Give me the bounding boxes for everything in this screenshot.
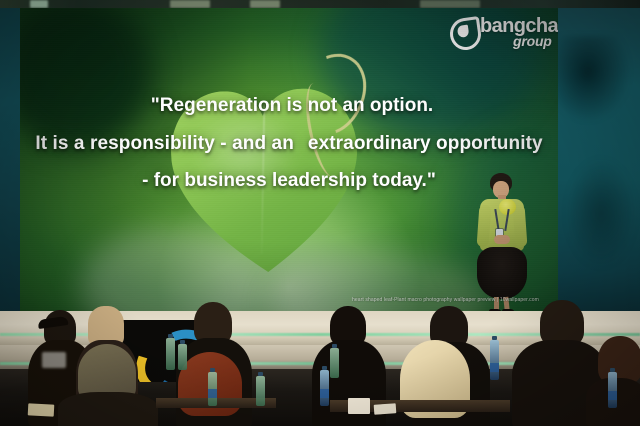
paper-notes xyxy=(374,403,397,415)
bottle-cap xyxy=(322,366,327,370)
bottle-cap xyxy=(492,336,497,340)
stage-speaker xyxy=(472,173,532,311)
paper-notes xyxy=(28,403,55,416)
projection-screen: bangchak group "Regeneration is not an o… xyxy=(20,8,558,311)
bottle-label xyxy=(490,363,499,372)
leaf-droplet-icon xyxy=(448,16,483,52)
water-bottle xyxy=(330,348,339,378)
speaker-hands xyxy=(494,235,510,244)
bottle-cap xyxy=(168,334,173,338)
bottle-label xyxy=(320,389,329,398)
right-wall xyxy=(556,8,640,318)
quote-line-2: It is a responsibility - and anextraordi… xyxy=(20,134,558,155)
quote-line-2a: It is a responsibility - and an xyxy=(35,133,294,154)
ceiling-lamp xyxy=(30,0,48,8)
ceiling-lamp xyxy=(170,0,210,8)
left-wall xyxy=(0,8,22,320)
slide-attribution: heart shaped leaf-Plant macro photograph… xyxy=(352,297,558,307)
water-bottle xyxy=(166,338,175,370)
quote-line-1: "Regeneration is not an option. xyxy=(26,96,558,117)
water-bottle xyxy=(208,372,217,406)
conference-screenshot: bangchak group "Regeneration is not an o… xyxy=(0,0,640,426)
bottle-cap xyxy=(180,340,185,344)
bottle-cap xyxy=(258,372,263,376)
wall-shadow xyxy=(552,36,632,124)
speaker-skirt xyxy=(477,247,527,299)
water-bottle xyxy=(178,344,187,370)
napkin-holder xyxy=(348,398,370,414)
water-bottle xyxy=(320,370,329,406)
logo-sub-wordmark: group xyxy=(513,34,552,48)
audience-body xyxy=(58,392,158,426)
quote-line-2b: extraordinary opportunity xyxy=(308,133,543,154)
jacket-text-patch xyxy=(42,352,66,368)
wall-shadow xyxy=(566,158,636,268)
ceiling-lamp xyxy=(420,0,480,8)
bottle-cap xyxy=(610,368,615,372)
water-bottle xyxy=(490,340,499,380)
water-bottle xyxy=(608,372,617,408)
ceiling-lamp xyxy=(250,0,280,8)
bottle-cap xyxy=(332,344,337,348)
bangchak-logo: bangchak group xyxy=(450,14,558,54)
audience-head xyxy=(598,336,640,384)
water-bottle xyxy=(256,376,265,406)
bottle-label xyxy=(608,391,617,400)
bottle-label xyxy=(208,389,217,398)
bottle-cap xyxy=(210,368,215,372)
